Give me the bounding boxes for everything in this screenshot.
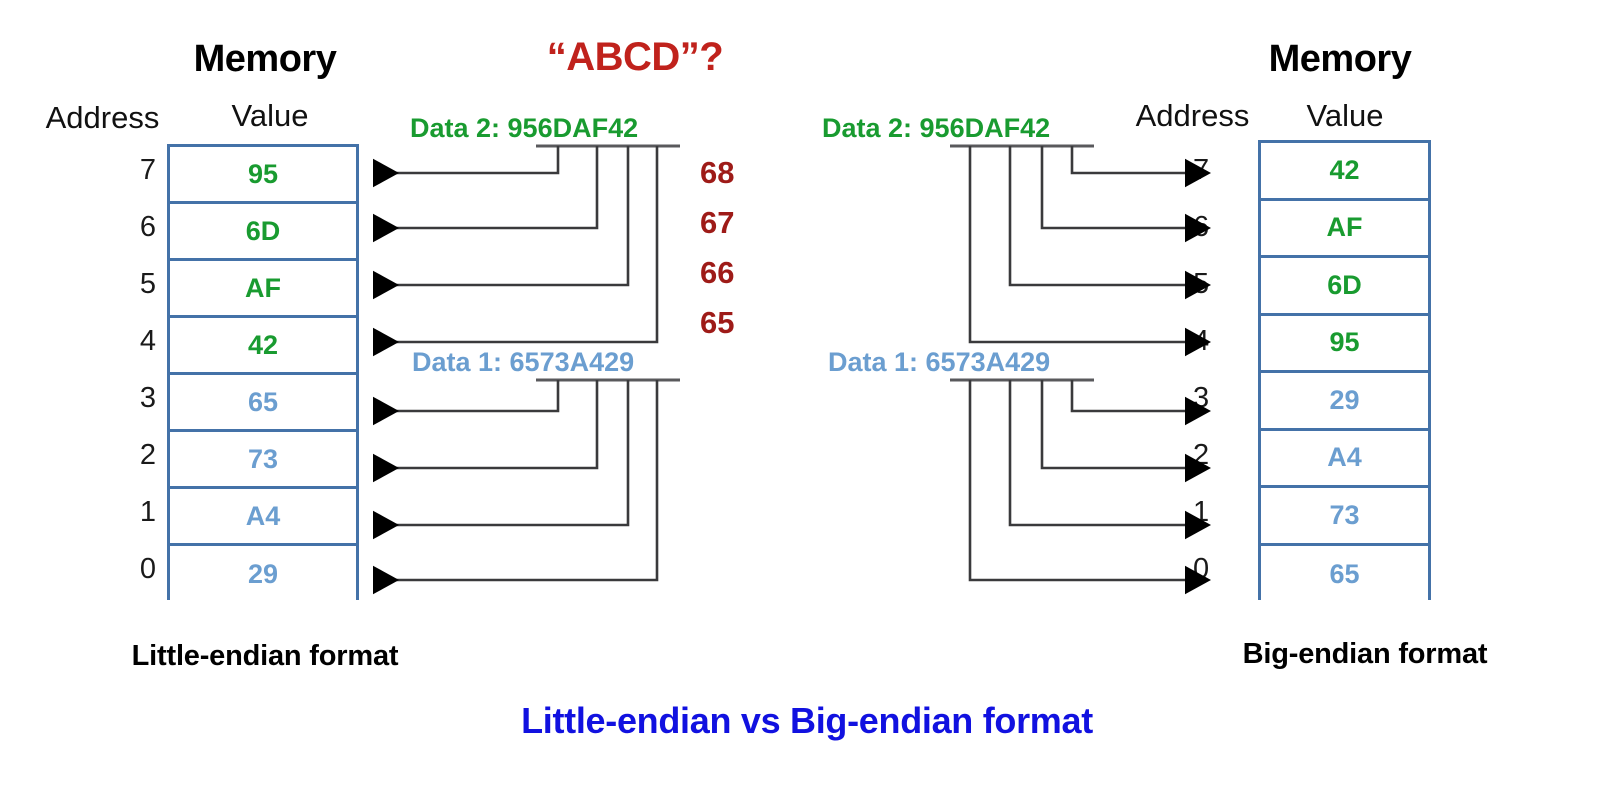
table-row: 29	[1261, 373, 1428, 431]
left-address-cell: 3	[60, 382, 156, 415]
offset-label: 67	[700, 205, 770, 241]
table-row: AF	[1261, 201, 1428, 259]
left-value-header: Value	[175, 98, 365, 134]
left-address-cell: 4	[60, 325, 156, 358]
right-value-header: Value	[1250, 98, 1440, 134]
table-row: 73	[1261, 488, 1428, 546]
left-address-cell: 0	[60, 553, 156, 586]
table-row: 42	[1261, 143, 1428, 201]
left-format-caption: Little-endian format	[40, 640, 490, 673]
memory-value: 65	[248, 387, 278, 418]
offset-label: 66	[700, 255, 770, 291]
right-address-cell: 0	[1193, 553, 1243, 586]
abcd-question-label: “ABCD”?	[480, 35, 790, 80]
right-format-caption: Big-endian format	[1140, 638, 1590, 671]
table-row: AF	[170, 261, 356, 318]
memory-value: 65	[1329, 559, 1359, 590]
left-address-column: 7 6 5 4 3 2 1 0	[60, 144, 156, 600]
right-address-cell: 3	[1193, 382, 1243, 415]
table-row: A4	[170, 489, 356, 546]
memory-value: A4	[246, 501, 281, 532]
memory-value: 42	[1329, 155, 1359, 186]
right-address-cell: 2	[1193, 439, 1243, 472]
right-address-cell: 4	[1193, 325, 1243, 358]
right-address-cell: 1	[1193, 496, 1243, 529]
right-memory-table: 42 AF 6D 95 29 A4 73 65	[1258, 140, 1431, 600]
page-title: Little-endian vs Big-endian format	[307, 700, 1307, 742]
offset-label: 68	[700, 155, 770, 191]
memory-value: 6D	[246, 216, 281, 247]
memory-value: 95	[1329, 327, 1359, 358]
offset-label: 65	[700, 305, 770, 341]
left-address-cell: 7	[60, 154, 156, 187]
left-memory-table: 95 6D AF 42 65 73 A4 29	[167, 144, 359, 600]
table-row: 29	[170, 546, 356, 603]
table-row: 73	[170, 432, 356, 489]
right-address-cell: 6	[1193, 211, 1243, 244]
memory-value: A4	[1327, 442, 1362, 473]
left-address-cell: 5	[60, 268, 156, 301]
right-data1-label: Data 1: 6573A429	[828, 347, 1050, 378]
table-row: 65	[170, 375, 356, 432]
table-row: A4	[1261, 431, 1428, 489]
memory-value: 6D	[1327, 270, 1362, 301]
left-data2-label: Data 2: 956DAF42	[410, 113, 638, 144]
left-address-cell: 6	[60, 211, 156, 244]
memory-value: 29	[1329, 385, 1359, 416]
memory-value: 29	[248, 559, 278, 590]
right-data2-label: Data 2: 956DAF42	[822, 113, 1050, 144]
right-address-column: 7 6 5 4 3 2 1 0	[1193, 144, 1243, 600]
right-address-cell: 7	[1193, 154, 1243, 187]
memory-value: 95	[248, 159, 278, 190]
right-memory-heading: Memory	[1230, 38, 1450, 81]
table-row: 6D	[170, 204, 356, 261]
table-row: 6D	[1261, 258, 1428, 316]
table-row: 95	[1261, 316, 1428, 374]
left-address-cell: 2	[60, 439, 156, 472]
memory-value: AF	[1327, 212, 1363, 243]
memory-value: 73	[1329, 500, 1359, 531]
left-memory-heading: Memory	[155, 38, 375, 81]
left-address-cell: 1	[60, 496, 156, 529]
memory-value: 42	[248, 330, 278, 361]
left-data1-label: Data 1: 6573A429	[412, 347, 634, 378]
table-row: 95	[170, 147, 356, 204]
memory-value: 73	[248, 444, 278, 475]
left-address-header: Address	[20, 100, 185, 136]
table-row: 42	[170, 318, 356, 375]
memory-value: AF	[245, 273, 281, 304]
table-row: 65	[1261, 546, 1428, 604]
right-address-cell: 5	[1193, 268, 1243, 301]
diagram-canvas: Memory Address Value 7 6 5 4 3 2 1 0 95 …	[0, 0, 1614, 792]
